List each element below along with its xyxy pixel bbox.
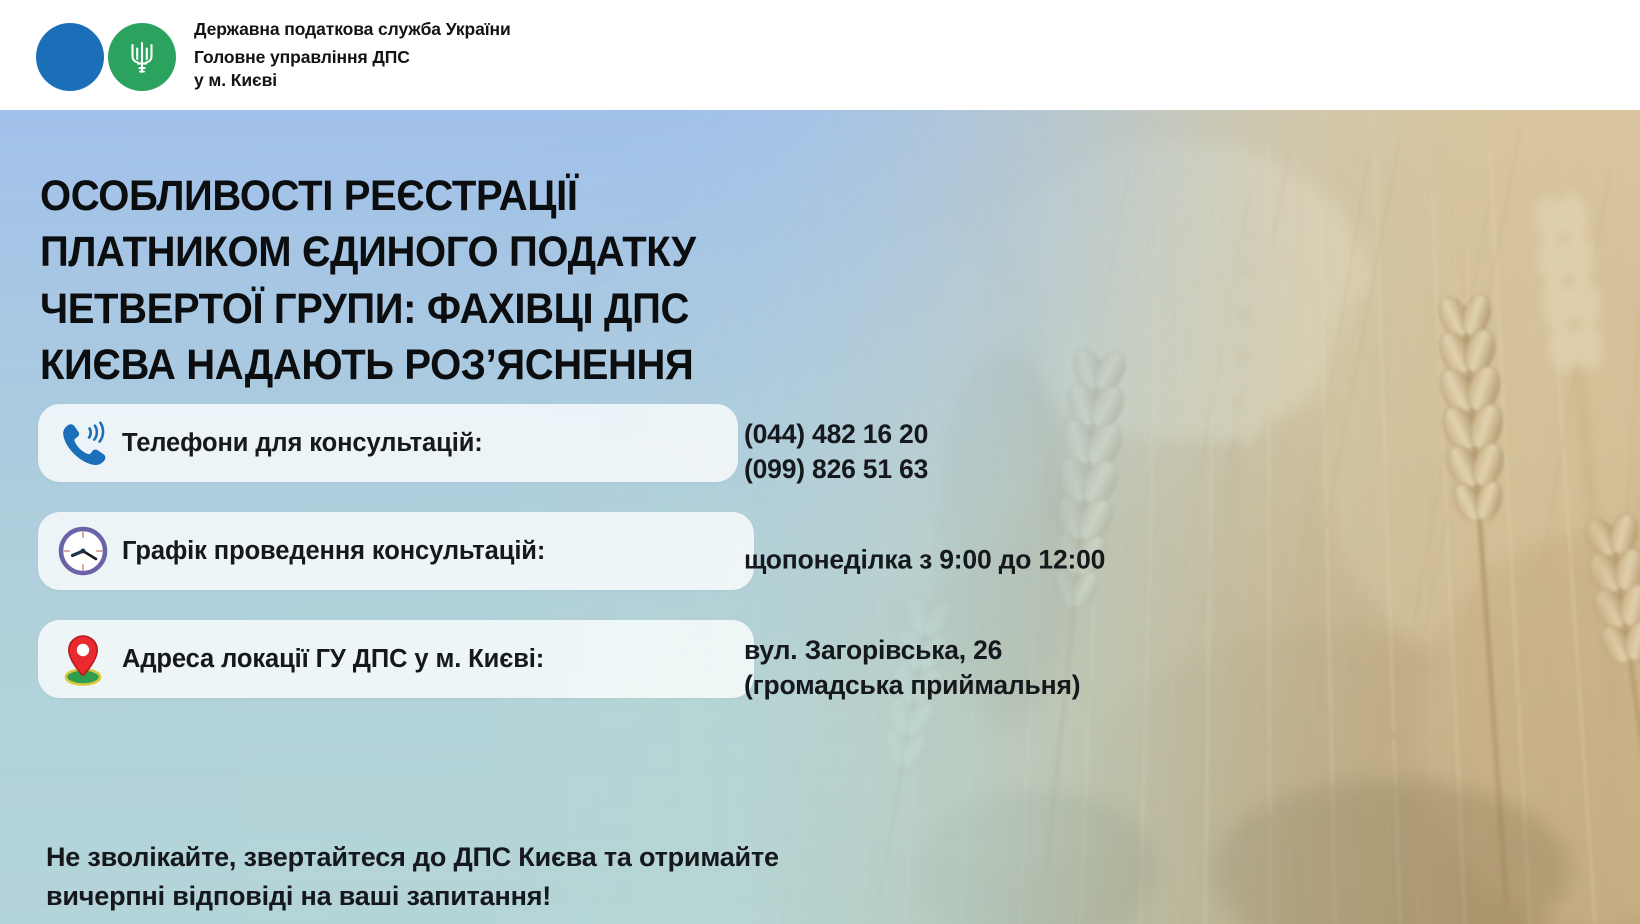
phones-pill: Телефони для консультацій:	[38, 404, 738, 482]
info-rows: Телефони для консультацій: (044) 482 16 …	[0, 404, 1640, 728]
org-title-line2: Головне управління ДПС у м. Києві	[194, 46, 511, 92]
address-value: вул. Загорівська, 26 (громадська приймал…	[744, 633, 1080, 703]
info-row-address: Адреса локації ГУ ДПС у м. Києві: вул. З…	[0, 620, 1640, 716]
org-title-line1: Державна податкова служба України	[194, 18, 511, 41]
logo	[36, 19, 186, 91]
poster-canvas: ОСОБЛИВОСТІ РЕЄСТРАЦІЇ ПЛАТНИКОМ ЄДИНОГО…	[0, 110, 1640, 924]
schedule-pill: Графік проведення консультацій:	[38, 512, 754, 590]
page-title: ОСОБЛИВОСТІ РЕЄСТРАЦІЇ ПЛАТНИКОМ ЄДИНОГО…	[40, 168, 877, 393]
poster: Державна податкова служба України Головн…	[0, 0, 1640, 924]
phone-ringing-icon	[56, 416, 110, 470]
trident-icon	[127, 37, 157, 77]
schedule-label: Графік проведення консультацій:	[122, 537, 545, 566]
org-name-block: Державна податкова служба України Головн…	[194, 18, 511, 93]
info-row-phones: Телефони для консультацій: (044) 482 16 …	[0, 404, 1640, 500]
logo-green-circle-icon	[108, 23, 176, 91]
address-label: Адреса локації ГУ ДПС у м. Києві:	[122, 645, 544, 674]
header-bar: Державна податкова служба України Головн…	[0, 0, 1640, 110]
location-pin-icon	[56, 632, 110, 686]
call-to-action-text: Не зволікайте, звертайтеся до ДПС Києва …	[46, 838, 1046, 916]
schedule-value: щопонеділка з 9:00 до 12:00	[744, 542, 1105, 577]
clock-icon	[56, 524, 110, 578]
phones-label: Телефони для консультацій:	[122, 429, 483, 458]
logo-blue-circle-icon	[36, 23, 104, 91]
address-pill: Адреса локації ГУ ДПС у м. Києві:	[38, 620, 754, 698]
poster-content: ОСОБЛИВОСТІ РЕЄСТРАЦІЇ ПЛАТНИКОМ ЄДИНОГО…	[0, 110, 1640, 924]
info-row-schedule: Графік проведення консультацій: щопонеді…	[0, 512, 1640, 608]
phones-value: (044) 482 16 20 (099) 826 51 63	[744, 417, 928, 487]
